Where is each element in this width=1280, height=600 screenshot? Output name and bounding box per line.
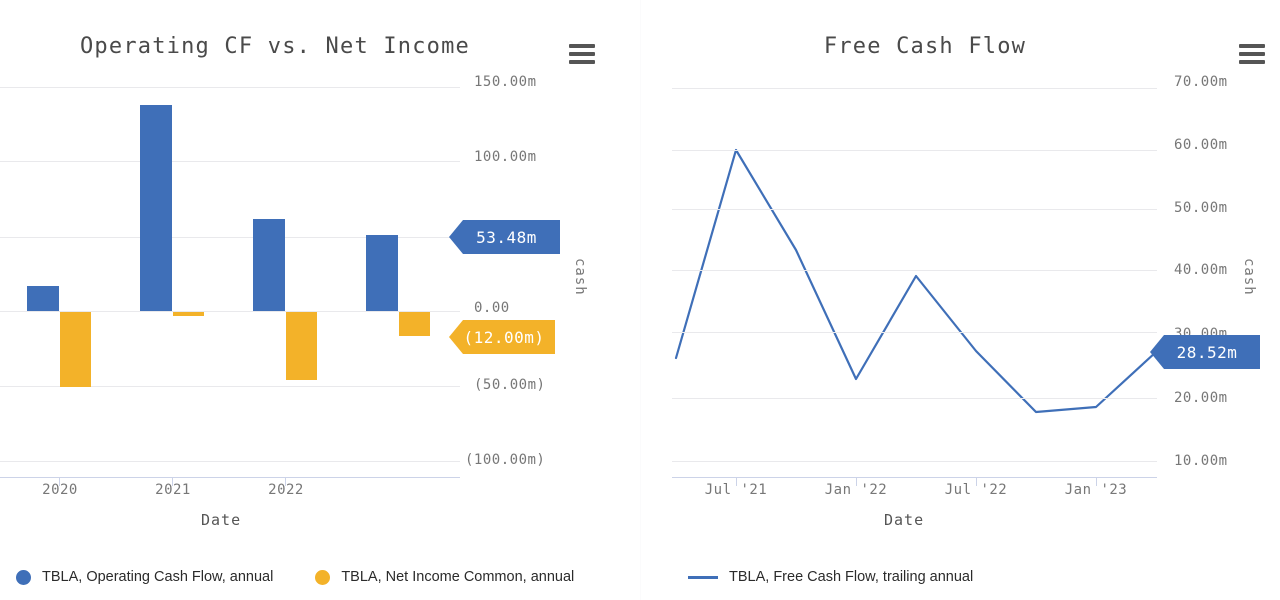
gridline xyxy=(672,88,1157,89)
bar-net-income-common[interactable] xyxy=(60,312,91,387)
x-axis-title: Date xyxy=(201,511,241,529)
bar-operating-cash-flow[interactable] xyxy=(27,286,59,311)
y-axis-tick-label: 50.00m xyxy=(1174,200,1228,216)
x-axis-tick-label: 2022 xyxy=(250,482,322,498)
gridline xyxy=(0,461,460,462)
chart-panel-operating-cf: Operating CF vs. Net Income xyxy=(0,0,640,600)
value-badge-free-cash-flow[interactable]: 28.52m xyxy=(1150,335,1260,369)
page-title-left: Operating CF vs. Net Income xyxy=(0,34,640,59)
x-axis-tick-label: Jul '21 xyxy=(700,482,772,498)
gridline xyxy=(672,332,1157,333)
plot-area-right xyxy=(672,60,1157,480)
x-axis-tick-label: Jul '22 xyxy=(940,482,1012,498)
hamburger-bar xyxy=(1239,60,1265,64)
hamburger-bar xyxy=(569,44,595,48)
gridline xyxy=(672,209,1157,210)
legend-item-net-income-common[interactable]: TBLA, Net Income Common, annual xyxy=(315,569,574,585)
x-axis-tick-label: Jan '23 xyxy=(1060,482,1132,498)
legend-dot-icon xyxy=(16,570,31,585)
hamburger-menu-icon[interactable] xyxy=(569,44,595,64)
x-axis-tick-label: 2020 xyxy=(24,482,96,498)
legend-left: TBLA, Operating Cash Flow, annual TBLA, … xyxy=(0,554,640,600)
value-badge-net-income[interactable]: (12.00m) xyxy=(449,320,555,354)
y-axis-tick-label: 20.00m xyxy=(1174,390,1228,406)
plot-area-left xyxy=(0,60,460,480)
legend-item-free-cash-flow[interactable]: TBLA, Free Cash Flow, trailing annual xyxy=(688,569,973,585)
gridline xyxy=(0,161,460,162)
y-axis-tick-label: 40.00m xyxy=(1174,262,1228,278)
legend-label: TBLA, Net Income Common, annual xyxy=(341,569,574,585)
y-axis-tick-label: 60.00m xyxy=(1174,137,1228,153)
charts-stage: Operating CF vs. Net Income xyxy=(0,0,1280,600)
bar-net-income-common[interactable] xyxy=(173,312,204,316)
x-axis-line xyxy=(0,477,460,478)
bar-operating-cash-flow[interactable] xyxy=(366,235,398,311)
legend-dot-icon xyxy=(315,570,330,585)
x-axis-tick-label: Jan '22 xyxy=(820,482,892,498)
hamburger-bar xyxy=(1239,44,1265,48)
hamburger-menu-icon[interactable] xyxy=(1239,44,1265,64)
y-axis-tick-label: 10.00m xyxy=(1174,453,1228,469)
legend-label: TBLA, Free Cash Flow, trailing annual xyxy=(729,569,973,585)
y-axis-title: cash xyxy=(1241,258,1257,296)
bar-operating-cash-flow[interactable] xyxy=(253,219,285,311)
gridline xyxy=(0,87,460,88)
gridline xyxy=(672,150,1157,151)
hamburger-bar xyxy=(1239,52,1265,56)
page-title-right: Free Cash Flow xyxy=(640,34,1280,59)
y-axis-tick-label: 70.00m xyxy=(1174,74,1228,90)
y-axis-tick-label: 0.00 xyxy=(474,300,510,316)
legend-item-operating-cash-flow[interactable]: TBLA, Operating Cash Flow, annual xyxy=(16,569,273,585)
y-axis-title: cash xyxy=(572,258,588,296)
bar-operating-cash-flow[interactable] xyxy=(140,105,172,311)
x-axis-title: Date xyxy=(884,511,924,529)
y-axis-tick-label: 100.00m xyxy=(474,149,537,165)
x-axis-tick-label: 2021 xyxy=(137,482,209,498)
value-badge-operating-cash-flow[interactable]: 53.48m xyxy=(449,220,560,254)
y-axis-tick-label: (50.00m) xyxy=(474,377,545,393)
bar-net-income-common[interactable] xyxy=(399,312,430,336)
hamburger-bar xyxy=(569,60,595,64)
x-axis-line xyxy=(672,477,1157,478)
hamburger-bar xyxy=(569,52,595,56)
y-axis-tick-label: (100.00m) xyxy=(465,452,545,468)
gridline xyxy=(672,270,1157,271)
gridline xyxy=(672,398,1157,399)
bar-net-income-common[interactable] xyxy=(286,312,317,380)
legend-right: TBLA, Free Cash Flow, trailing annual xyxy=(640,554,1280,600)
legend-label: TBLA, Operating Cash Flow, annual xyxy=(42,569,273,585)
legend-line-icon xyxy=(688,576,718,579)
gridline xyxy=(672,461,1157,462)
y-axis-tick-label: 150.00m xyxy=(474,74,537,90)
